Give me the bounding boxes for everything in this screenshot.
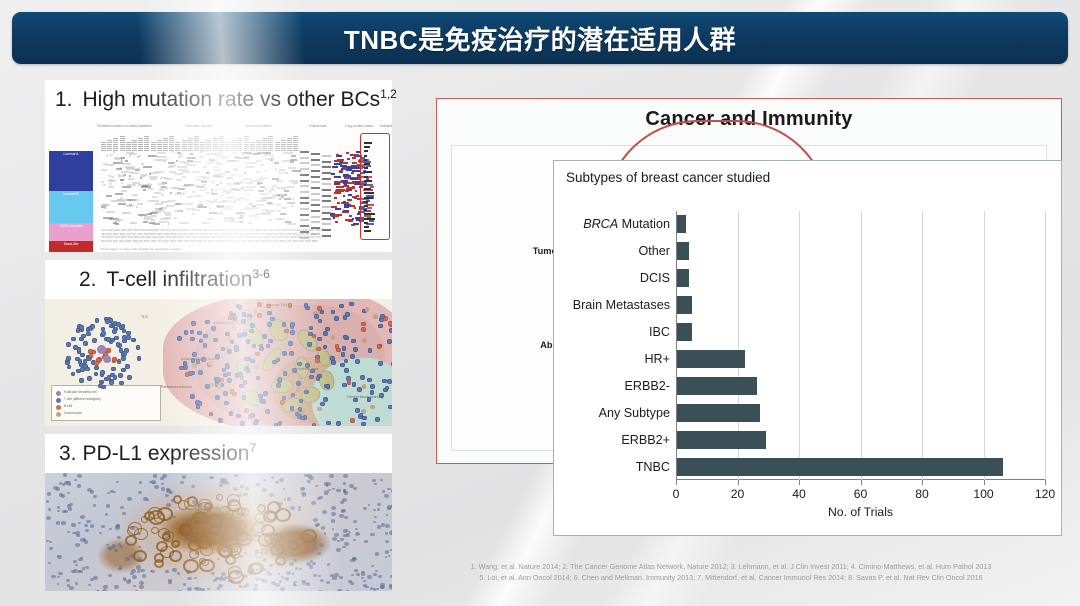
nucleus-stain [298, 509, 301, 511]
figure-1-mutation-mark [268, 191, 271, 193]
figure-1-mutation-mark [200, 151, 205, 153]
nucleus-stain [140, 569, 144, 572]
pdl1-membrane-stain [299, 543, 310, 552]
figure-1-mutation-mark [257, 182, 263, 184]
pdl1-membrane-stain [192, 512, 204, 523]
figure-1-mutation-mark [225, 200, 232, 202]
figure-1-clinical-mark [311, 176, 320, 178]
figure-1-mutation-mark [216, 205, 224, 207]
figure-1-mutation-mark [256, 171, 260, 173]
figure-1-mutation-mark [164, 212, 171, 214]
figure-1-mutation-rate-mark [364, 155, 367, 157]
nucleus-stain [343, 489, 346, 491]
figure-1-mutation-mark [174, 217, 177, 219]
genomic-mutation-heatmap: Predicted somatic non-silent mutationsTr… [45, 119, 392, 252]
t-cell [215, 395, 220, 400]
nucleus-stain [263, 479, 266, 481]
pdl1-membrane-stain [179, 524, 192, 536]
nucleus-stain [233, 487, 238, 491]
nucleus-stain [244, 552, 247, 554]
figure-1-mutation-rate-mark [364, 213, 375, 215]
figure-1-mutation-mark [120, 161, 124, 163]
pdl1-membrane-stain [133, 550, 147, 562]
figure-1-column-group-label: Copy number status [345, 124, 374, 128]
figure-1-cnv-mark [351, 154, 358, 156]
figure-1-mutation-rate-mark [364, 201, 368, 203]
nucleus-stain [353, 487, 357, 490]
nucleus-stain [286, 571, 291, 575]
pd-l1-ihc-micrograph [45, 473, 392, 591]
nucleus-stain [219, 484, 223, 487]
nucleus-stain [374, 516, 377, 518]
figure-1-column-tick [175, 142, 180, 151]
nucleus-stain [139, 481, 142, 484]
nucleus-stain [391, 504, 392, 507]
figure-1-mutation-mark [243, 178, 253, 180]
pdl1-membrane-stain [235, 532, 251, 547]
nucleus-stain [139, 581, 144, 585]
t-cell [267, 322, 272, 327]
figure-1-mutation-mark [249, 215, 257, 217]
reference-line-2: 5. Loi, et al. Ann Oncol 2014; 6. Chen a… [386, 572, 1076, 583]
figure-1-mutation-rate-mark [364, 146, 370, 148]
page-title: TNBC是免疫治疗的潜在适用人群 [344, 20, 736, 57]
nucleus-stain [56, 487, 60, 490]
nucleus-stain [211, 572, 215, 575]
figure-1-mutation-mark [287, 223, 296, 225]
figure-1-mutation-mark [197, 206, 207, 208]
figure-1-mutation-mark [103, 207, 107, 209]
nucleus-stain [342, 546, 346, 549]
chart-x-tick [799, 480, 800, 485]
figure-1-cnv-mark [336, 154, 339, 156]
t-cell [246, 368, 251, 373]
chart-x-tick-label: 120 [1035, 487, 1055, 501]
nucleus-stain [90, 524, 94, 527]
figure-1-mutation-mark [165, 214, 171, 216]
nucleus-stain [390, 549, 392, 551]
nucleus-stain [80, 515, 85, 519]
figure-1-mutation-mark [199, 189, 207, 191]
figure-1-mutation-mark [256, 204, 263, 206]
figure-1-cnv-mark [352, 157, 355, 159]
nucleus-stain [262, 579, 267, 583]
figure-1-mutation-mark [150, 178, 157, 180]
t-cell [85, 367, 90, 372]
figure-1-cnv-mark [353, 223, 358, 225]
figure-1-mutation-mark [136, 206, 138, 208]
figure-1-mutation-mark [222, 192, 224, 194]
figure-1-mutation-mark [246, 206, 249, 208]
chart-category-label: DCIS [640, 271, 670, 285]
figure-1-clinical-mark [300, 225, 309, 227]
nucleus-stain [332, 488, 335, 491]
chart-x-tick [738, 480, 739, 485]
figure-1-mutation-mark [169, 165, 176, 167]
figure-1-mutation-mark [249, 203, 252, 205]
figure-1-subtype-band: Basal-like [49, 241, 93, 252]
t-cell [355, 359, 360, 364]
figure-1-mutation-mark [279, 218, 283, 220]
figure-1-mutation-mark [232, 179, 235, 181]
t-cell [192, 363, 197, 368]
chart-category-label: BRCA Mutation [583, 217, 670, 231]
chart-bar-row: Any Subtype [677, 404, 760, 422]
t-cell [196, 404, 201, 409]
figure-1-clinical-mark [300, 197, 309, 199]
figure-1-mutation-mark [284, 190, 288, 192]
nucleus-stain [217, 497, 220, 499]
nucleus-stain [61, 521, 66, 525]
figure-1-mutation-mark [116, 168, 122, 170]
nucleus-stain [337, 540, 340, 542]
nucleus-stain [239, 585, 242, 587]
figure-2-region-label: Necrotic area [297, 367, 318, 371]
nucleus-stain [354, 569, 358, 572]
pdl1-membrane-stain [209, 525, 220, 535]
chart-x-tick-label: 0 [673, 487, 680, 501]
nucleus-stain [75, 543, 80, 547]
figure-1-mutation-mark [240, 210, 243, 212]
t-cell [387, 379, 392, 384]
t-cell [276, 383, 281, 388]
figure-1-cnv-mark [337, 202, 340, 204]
figure-1-mutation-mark [211, 181, 215, 183]
nucleus-stain [109, 528, 112, 531]
nucleus-stain [234, 474, 238, 477]
figure-1-mutation-mark [170, 187, 179, 189]
figure-1-column-tick [200, 142, 205, 151]
figure-1-mutation-mark [138, 155, 141, 157]
chart-gridline [984, 211, 985, 480]
nucleus-stain [318, 590, 323, 591]
t-cell [76, 369, 81, 374]
nucleus-stain [317, 497, 321, 500]
figure-1-mutation-mark [281, 196, 284, 198]
figure-1-mutation-rate-mark [364, 163, 370, 165]
figure-1-mutation-mark [225, 171, 230, 173]
nucleus-stain [320, 579, 325, 583]
nucleus-stain [217, 587, 221, 590]
nucleus-stain [67, 504, 71, 507]
nucleus-stain [116, 481, 119, 483]
b-cell [336, 348, 341, 353]
figure-1-cnv-mark [348, 220, 353, 222]
t-cell [304, 303, 309, 308]
t-cell [100, 370, 105, 375]
figure-1-mutation-mark [183, 162, 189, 164]
figure-1-mutation-rate-mark [364, 197, 373, 199]
figure-1-mutation-mark [216, 176, 224, 178]
figure-1-mutation-mark [258, 190, 264, 192]
figure-1-mutation-mark [275, 168, 277, 170]
nucleus-stain [180, 481, 184, 484]
t-cell [375, 417, 380, 422]
pdl1-membrane-stain [199, 559, 215, 573]
b-cell [185, 372, 190, 377]
nucleus-stain [256, 483, 260, 486]
figure-1-mutation-mark [161, 194, 165, 196]
pdl1-membrane-stain [261, 524, 275, 536]
nucleus-stain [319, 543, 324, 547]
figure-1-cnv-mark [343, 201, 345, 203]
nucleus-stain [88, 584, 91, 586]
figure-1-mutation-mark [121, 190, 127, 192]
figure-1-mutation-mark [159, 221, 169, 223]
figure-1-column-tick [101, 142, 106, 151]
t-cell [227, 378, 232, 383]
figure-1-cnv-mark [343, 195, 346, 197]
nucleus-stain [219, 578, 224, 582]
nucleus-stain [380, 586, 384, 589]
figure-1-mutation-mark [243, 189, 253, 191]
panel-2-superscript: 3-6 [252, 267, 269, 281]
nucleus-stain [138, 546, 141, 548]
t-cell [223, 373, 228, 378]
figure-1-mutation-mark [103, 184, 106, 186]
t-cell [355, 408, 360, 413]
chart-category-label: ERBB2- [625, 379, 671, 393]
figure-1-mutation-mark [182, 176, 186, 178]
nucleus-stain [119, 566, 123, 569]
figure-1-mutation-mark [279, 169, 285, 171]
figure-1-clinical-mark [311, 204, 320, 206]
figure-1-mutation-mark [113, 151, 116, 153]
nucleus-stain [119, 546, 122, 549]
figure-1-mutation-mark [269, 189, 274, 191]
nucleus-stain [255, 549, 259, 552]
t-cell [87, 376, 92, 381]
references-block: 1. Wang, et al. Nature 2014; 2. The Canc… [386, 561, 1076, 583]
figure-1-mutation-mark [157, 152, 166, 154]
t-cell [237, 333, 242, 338]
nucleus-stain [367, 575, 372, 579]
t-cell [223, 391, 228, 396]
figure-1-cnv-mark [356, 195, 359, 197]
chart-bar [677, 215, 686, 233]
nucleus-stain [237, 494, 242, 498]
t-cell [290, 322, 295, 327]
b-cell [244, 408, 249, 413]
figure-1-mutation-mark [231, 221, 240, 223]
figure-1-mutation-mark [103, 217, 113, 219]
t-cell [203, 343, 208, 348]
nucleus-stain [245, 487, 250, 491]
nucleus-stain [106, 504, 111, 508]
figure-1-mutation-mark [121, 171, 131, 173]
figure-1-mutation-mark [240, 221, 243, 223]
figure-1-mutation-mark [245, 186, 249, 188]
t-cell [272, 360, 277, 365]
figure-1-mutation-mark [245, 182, 253, 184]
figure-1-cnv-mark [340, 161, 344, 163]
t-cell [101, 331, 106, 336]
b-cell [280, 400, 285, 405]
figure-1-clinical-mark [311, 187, 320, 189]
nucleus-stain [373, 521, 376, 523]
nucleus-stain [192, 500, 196, 503]
t-cell [267, 311, 272, 316]
figure-1-mutation-mark [221, 167, 223, 169]
figure-1-mutation-mark [211, 191, 215, 193]
nucleus-stain [125, 557, 130, 561]
t-cell [353, 347, 358, 352]
t-cell [282, 351, 287, 356]
chart-bar-row: TNBC [677, 458, 1003, 476]
pdl1-membrane-stain [232, 508, 243, 518]
figure-1-mutation-rate-mark [364, 142, 372, 144]
t-cell [317, 407, 322, 412]
t-cell [387, 339, 392, 344]
figure-1-cnv-mark [331, 173, 335, 175]
figure-1-mutation-mark [267, 202, 272, 204]
nucleus-stain [75, 564, 78, 566]
figure-1-mutation-mark [176, 160, 178, 162]
nucleus-stain [76, 534, 79, 537]
t-cell [290, 406, 295, 411]
figure-1-mutation-mark [143, 221, 148, 223]
t-cell [125, 364, 130, 369]
t-cell [183, 361, 188, 366]
figure-1-cnv-mark [335, 208, 341, 210]
figure-1-mutation-mark [230, 174, 236, 176]
pdl1-membrane-stain [228, 570, 244, 584]
nucleus-stain [47, 492, 52, 496]
figure-1-clinical-mark [311, 221, 320, 223]
nucleus-stain [385, 540, 389, 543]
chart-bar-row: ERBB2- [677, 377, 757, 395]
t-cell [378, 324, 383, 329]
figure-1-column-group-label: Multiplatform mutation rate [380, 124, 392, 128]
b-cell [88, 349, 93, 354]
nucleus-stain [363, 584, 367, 587]
figure-1-column-tick [126, 142, 131, 151]
nucleus-stain [165, 494, 169, 497]
t-cell [343, 335, 348, 340]
figure-1-mutation-mark [221, 157, 226, 159]
figure-1-mutation-mark [125, 160, 128, 162]
figure-1-column-tick [250, 142, 255, 151]
figure-1-clinical-mark [300, 157, 309, 159]
figure-1-mutation-rate-mark [364, 226, 369, 228]
figure-1-column-tick [268, 136, 273, 151]
nucleus-stain [336, 489, 340, 492]
figure-1-mutation-mark [209, 207, 211, 209]
figure-1-mutation-mark [265, 170, 267, 172]
figure-1-clinical-mark [311, 216, 320, 218]
figure-1-cnv-mark [351, 172, 353, 174]
figure-1-mutation-mark [177, 152, 181, 154]
nucleus-stain [67, 531, 70, 533]
figure-1-mutation-mark [210, 161, 218, 163]
nucleus-stain [114, 585, 119, 589]
nucleus-stain [93, 495, 97, 498]
figure-1-mutation-mark [265, 188, 268, 190]
figure-2-legend-row: B cell [56, 404, 72, 408]
figure-1-mutation-mark [238, 175, 244, 177]
chart-category-label: Brain Metastases [573, 298, 670, 312]
figure-1-clinical-mark [300, 180, 309, 182]
nucleus-stain [329, 474, 334, 478]
figure-1-column-tick [225, 142, 230, 151]
nucleus-stain [191, 485, 195, 488]
nucleus-stain [78, 570, 81, 572]
figure-1-mutation-mark [142, 185, 148, 187]
nucleus-stain [152, 482, 155, 485]
nucleus-stain [373, 588, 376, 591]
chart-bar-row: Brain Metastases [677, 296, 692, 314]
nucleus-stain [307, 480, 311, 483]
nucleus-stain [382, 490, 386, 493]
figure-1-cnv-mark [352, 218, 354, 220]
nucleus-stain [340, 501, 344, 504]
t-cell [190, 394, 195, 399]
figure-1-mutation-mark [114, 157, 120, 159]
figure-1-column-group-label: Predicted somatic non-silent mutations [97, 124, 152, 128]
nucleus-stain [331, 506, 336, 510]
figure-1-mutation-mark [277, 210, 281, 212]
chart-x-axis-label: No. of Trials [676, 505, 1045, 519]
figure-1-mutation-mark [115, 193, 122, 195]
nucleus-stain [324, 532, 327, 534]
nucleus-stain [313, 574, 317, 577]
b-cell [316, 347, 321, 352]
nucleus-stain [120, 506, 124, 510]
t-cell [111, 367, 116, 372]
figure-1-mutation-mark [259, 177, 267, 179]
nucleus-stain [290, 506, 295, 510]
figure-1-mutation-mark [125, 166, 134, 168]
figure-1-mutation-mark [218, 213, 224, 215]
nucleus-stain [262, 488, 267, 492]
chart-category-label: Other [639, 244, 671, 258]
figure-1-mutation-mark [122, 212, 128, 214]
chart-bar [677, 458, 1003, 476]
nucleus-stain [313, 518, 318, 522]
nucleus-stain [299, 568, 302, 570]
figure-1-mutation-rate-mark [364, 205, 368, 207]
figure-1-mutation-mark [261, 213, 270, 215]
t-cell [229, 411, 234, 416]
nucleus-stain [311, 501, 316, 505]
nucleus-stain [183, 583, 187, 586]
nucleus-stain [58, 572, 63, 576]
panel-1-heading: 1.High mutation rate vs other BCs1,2 [45, 80, 392, 119]
figure-1-mutation-mark [241, 187, 245, 189]
figure-1-mutation-mark [109, 154, 114, 156]
figure-1-mutation-mark [118, 174, 120, 176]
nucleus-stain [349, 484, 354, 488]
pdl1-membrane-stain [301, 529, 316, 543]
figure-1-mutation-rate-mark [364, 218, 375, 220]
t-cell [121, 324, 126, 329]
figure-1-mutation-rate-mark [364, 222, 368, 224]
nucleus-stain [49, 547, 53, 550]
figure-1-mutation-mark [148, 155, 156, 157]
t-cell [250, 323, 255, 328]
figure-1-mutation-mark [132, 194, 139, 196]
figure-1-mutation-mark [198, 204, 203, 206]
nucleus-stain [377, 503, 381, 506]
nucleus-stain [75, 582, 78, 585]
nucleus-stain [142, 574, 146, 577]
nucleus-stain [309, 565, 313, 568]
figure-1-cnv-mark [350, 178, 358, 180]
figure-2-region-label: Peritumoural tissue [161, 385, 192, 389]
nucleus-stain [280, 502, 283, 505]
nucleus-stain [146, 499, 149, 502]
figure-1-column-tick [213, 138, 218, 151]
